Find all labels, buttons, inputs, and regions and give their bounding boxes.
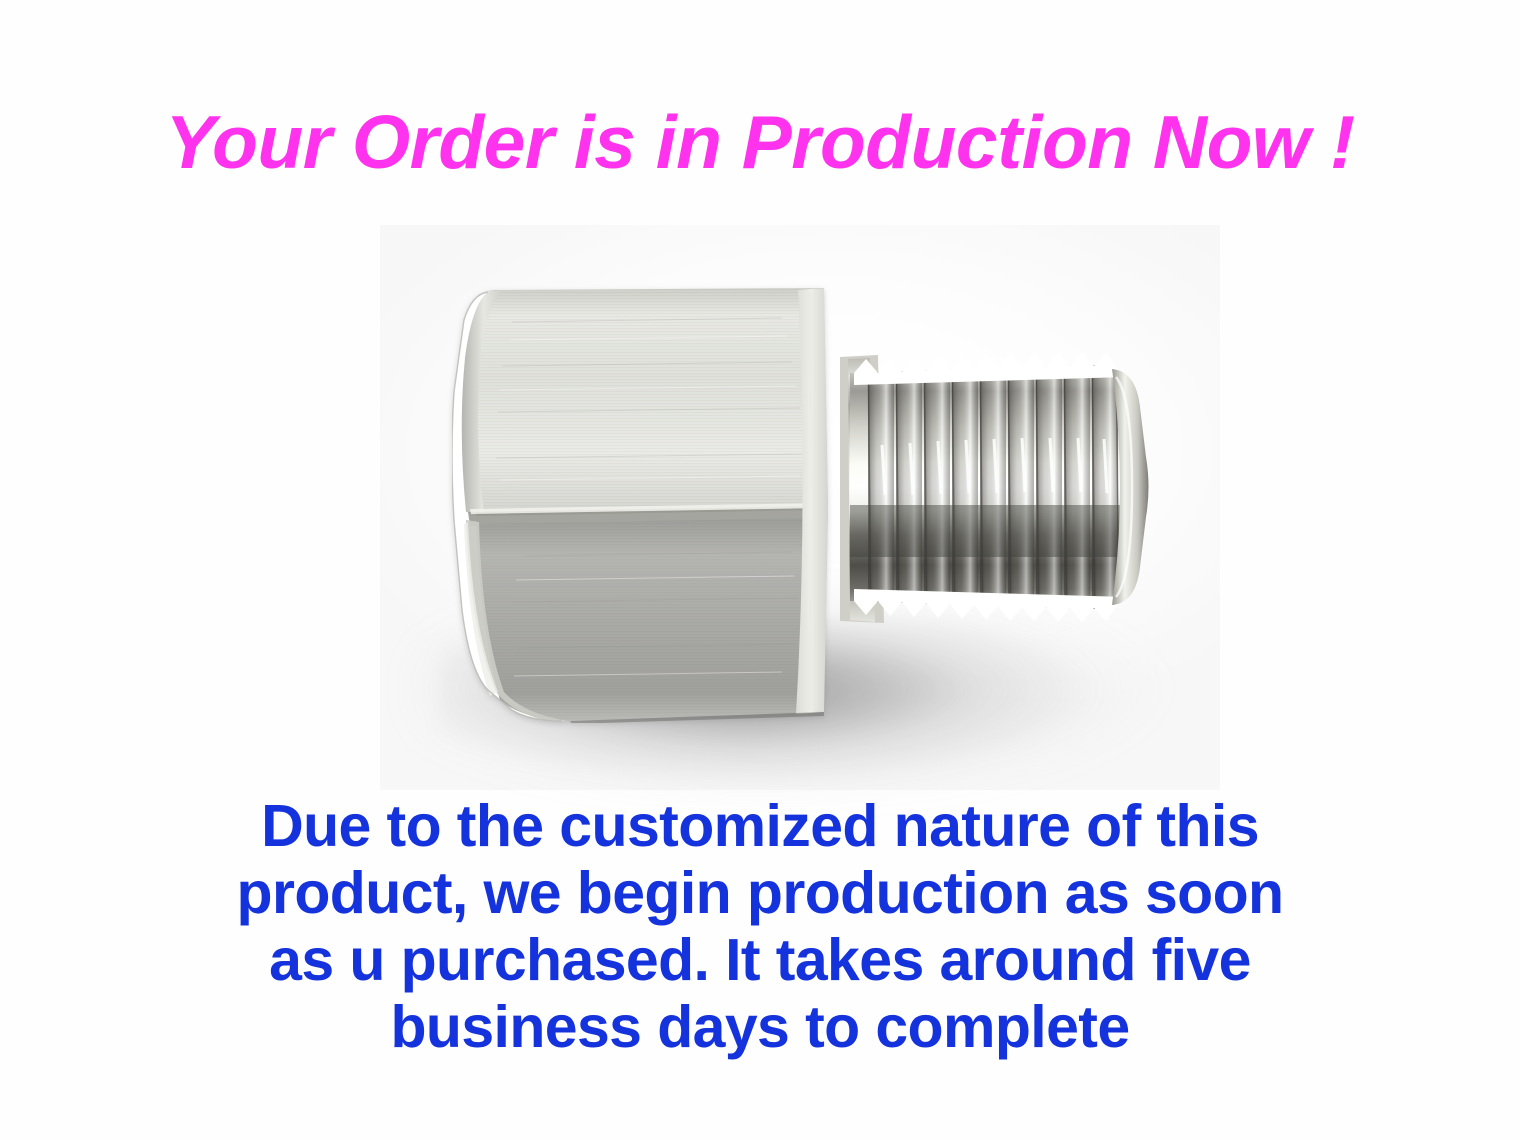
hex-lower-texture — [476, 518, 824, 721]
notice-line-1: Due to the customized nature of this — [0, 793, 1520, 860]
notice-line-2: product, we begin production as soon — [0, 860, 1520, 927]
notice-line-4: business days to complete — [0, 994, 1520, 1061]
production-notice: Due to the customized nature of this pro… — [0, 793, 1520, 1061]
notice-line-3: as u purchased. It takes around five — [0, 927, 1520, 994]
page-canvas: Your Order is in Production Now ! — [0, 0, 1520, 1140]
threaded-nipple — [840, 337, 1160, 637]
hex-body — [452, 280, 884, 723]
product-photo — [380, 225, 1220, 790]
page-title: Your Order is in Production Now ! — [0, 96, 1520, 188]
